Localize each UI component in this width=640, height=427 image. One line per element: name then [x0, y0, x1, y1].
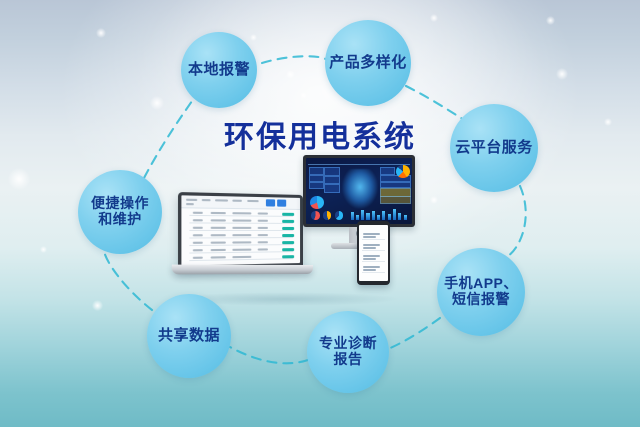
status-badge [282, 241, 294, 244]
table-action-button[interactable] [266, 199, 275, 206]
feature-bubble-label: 产品多样化 [329, 55, 407, 72]
feature-bubble-line: 云平台服务 [455, 140, 533, 157]
feature-bubble-line: 短信报警 [444, 292, 518, 308]
china-map-visual [342, 169, 378, 210]
feature-bubble-label: 便捷操作和维护 [91, 196, 149, 227]
connector-mobile-to-report [388, 318, 440, 349]
feature-bubble-line: 共享数据 [158, 328, 220, 345]
laptop-base [172, 265, 313, 275]
connector-shared-to-easy [104, 251, 152, 310]
connector-report-to-shared [230, 347, 308, 363]
feature-bubble-label: 本地报警 [188, 62, 250, 79]
bar-chart-bar [393, 209, 396, 220]
feature-bubble-mobile-app-sms[interactable]: 手机APP、短信报警 [437, 248, 525, 336]
feature-bubble-product-diversity[interactable]: 产品多样化 [325, 20, 411, 106]
feature-bubble-cloud-platform[interactable]: 云平台服务 [450, 104, 538, 192]
feature-bubble-diagnostic-report[interactable]: 专业诊断报告 [307, 311, 389, 393]
connector-cloud-to-mobile [503, 186, 526, 259]
feature-bubble-label: 专业诊断报告 [319, 336, 377, 367]
feature-bubble-shared-data[interactable]: 共享数据 [147, 294, 231, 378]
desktop-monitor [303, 155, 415, 227]
feature-bubble-line: 手机APP、 [444, 276, 518, 292]
status-badge [282, 248, 294, 251]
connector-local-to-product [262, 56, 327, 63]
bar-chart-bar [404, 215, 407, 220]
donut-chart [310, 196, 324, 209]
status-badge [282, 255, 294, 258]
monitor-screen [306, 158, 412, 224]
feature-bubble-line: 本地报警 [188, 62, 250, 79]
bar-chart-bar [377, 215, 380, 220]
phone-screen [359, 225, 388, 281]
bar-chart-bar [361, 210, 364, 220]
laptop [178, 192, 303, 270]
status-badge [282, 234, 294, 237]
feature-bubble-line: 专业诊断 [319, 336, 377, 352]
bar-chart-bar [388, 214, 391, 220]
feature-bubble-label: 手机APP、短信报警 [444, 276, 518, 307]
bar-chart-bar [382, 211, 385, 220]
donut-chart [335, 211, 343, 220]
table-action-button[interactable] [277, 199, 286, 206]
feature-bubble-line: 报告 [319, 352, 377, 368]
feature-bubble-line: 便捷操作 [91, 196, 149, 212]
donut-chart [323, 211, 331, 220]
page-title: 环保用电系统 [224, 112, 454, 156]
laptop-screen [181, 195, 300, 265]
bar-chart-bar [372, 211, 375, 220]
smartphone [357, 221, 390, 285]
bar-chart-bar [351, 212, 354, 220]
table-toolbar [181, 195, 300, 210]
feature-bubble-easy-operation[interactable]: 便捷操作和维护 [78, 170, 162, 254]
feature-bubble-label: 云平台服务 [455, 140, 533, 157]
bar-chart-bar [398, 213, 401, 220]
poster-canvas: 环保用电系统 [0, 0, 640, 427]
status-badge [282, 220, 294, 223]
status-badge [282, 227, 294, 230]
feature-bubble-line: 和维护 [91, 212, 149, 228]
feature-bubble-line: 产品多样化 [329, 55, 407, 72]
feature-bubble-local-alarm[interactable]: 本地报警 [181, 32, 257, 108]
feature-bubble-label: 共享数据 [158, 328, 220, 345]
status-badge [282, 213, 294, 216]
bar-chart-bar [366, 213, 369, 220]
bar-chart-bar [356, 215, 359, 220]
device-cluster [185, 155, 435, 310]
donut-chart [311, 211, 319, 220]
